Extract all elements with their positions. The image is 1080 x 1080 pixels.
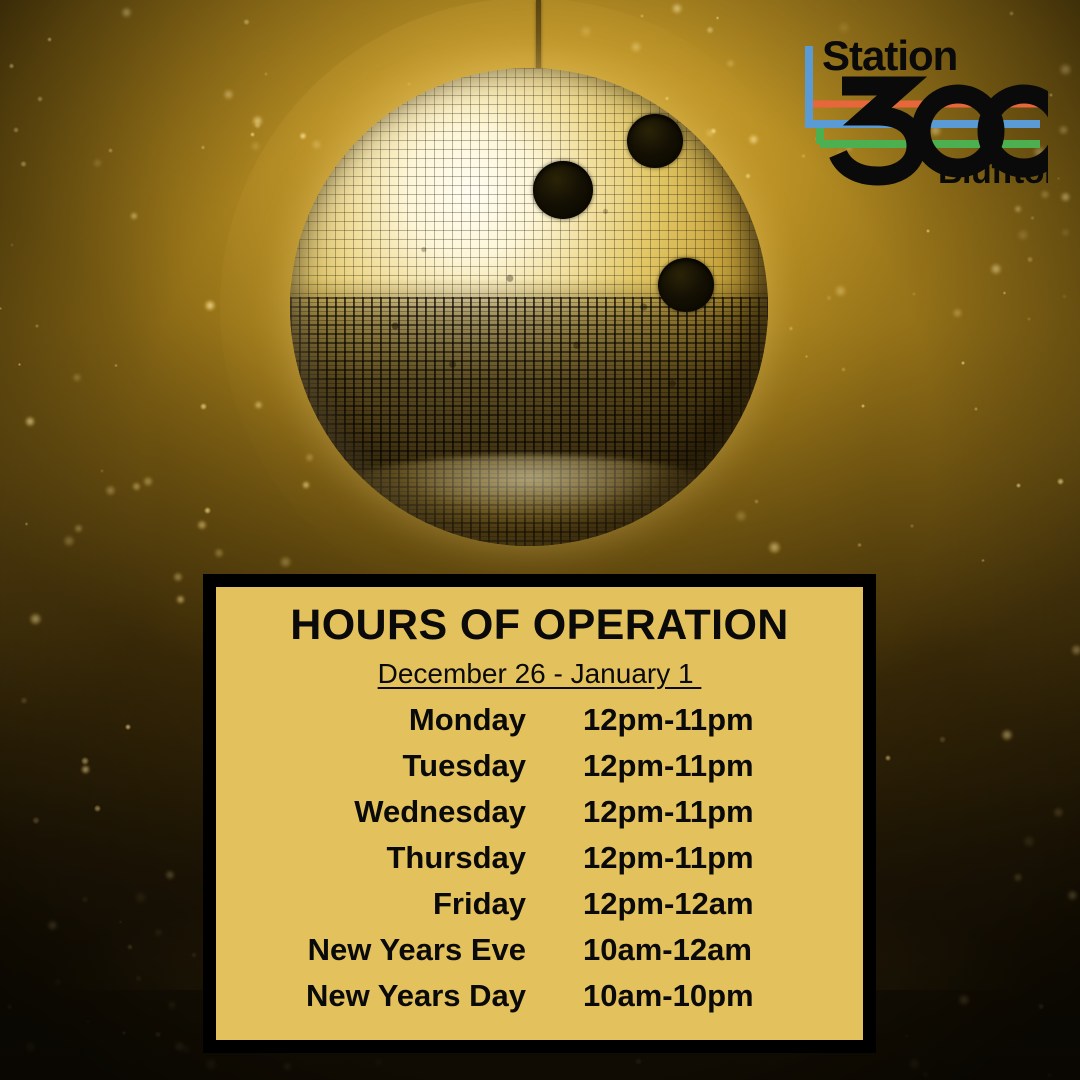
finger-hole-icon [627, 114, 683, 168]
hours-row: Monday12pm-11pm [216, 702, 863, 748]
hours-row-day: Friday [216, 886, 526, 922]
finger-hole-icon [658, 258, 714, 312]
hours-row: Wednesday12pm-11pm [216, 794, 863, 840]
hours-row: New Years Eve10am-12am [216, 932, 863, 978]
finger-hole-icon [533, 161, 593, 219]
hours-row-day: Thursday [216, 840, 526, 876]
hours-row: Friday12pm-12am [216, 886, 863, 932]
hours-row: Tuesday12pm-11pm [216, 748, 863, 794]
poster: Station Bluffton HOURS OF OPERATION Dece… [0, 0, 1080, 1080]
hours-row-day: New Years Day [216, 978, 526, 1014]
hours-row-time: 12pm-11pm [583, 794, 754, 830]
hours-row: Thursday12pm-11pm [216, 840, 863, 886]
hours-row-day: Tuesday [216, 748, 526, 784]
station-300-logo[interactable]: Station Bluffton [798, 28, 1048, 186]
date-range-label: December 26 - January 1 [378, 658, 702, 690]
hours-row-day: Wednesday [216, 794, 526, 830]
svg-text:Station: Station [822, 32, 957, 79]
hours-row-time: 12pm-11pm [583, 840, 754, 876]
hours-card-inner: HOURS OF OPERATION December 26 - January… [216, 587, 863, 1040]
hours-row-day: Monday [216, 702, 526, 738]
ball-body [290, 68, 768, 546]
hours-row-time: 12pm-11pm [583, 748, 754, 784]
page-title: HOURS OF OPERATION [290, 603, 789, 648]
hours-card: HOURS OF OPERATION December 26 - January… [203, 574, 876, 1053]
hours-list: Monday12pm-11pmTuesday12pm-11pmWednesday… [216, 702, 863, 1024]
hours-row-day: New Years Eve [216, 932, 526, 968]
disco-bowling-ball [290, 68, 768, 546]
svg-text:Bluffton: Bluffton [938, 153, 1048, 186]
hours-row-time: 10am-10pm [583, 978, 754, 1014]
hours-row-time: 12pm-12am [583, 886, 754, 922]
hours-row-time: 12pm-11pm [583, 702, 754, 738]
hours-row: New Years Day10am-10pm [216, 978, 863, 1024]
hours-row-time: 10am-12am [583, 932, 752, 968]
